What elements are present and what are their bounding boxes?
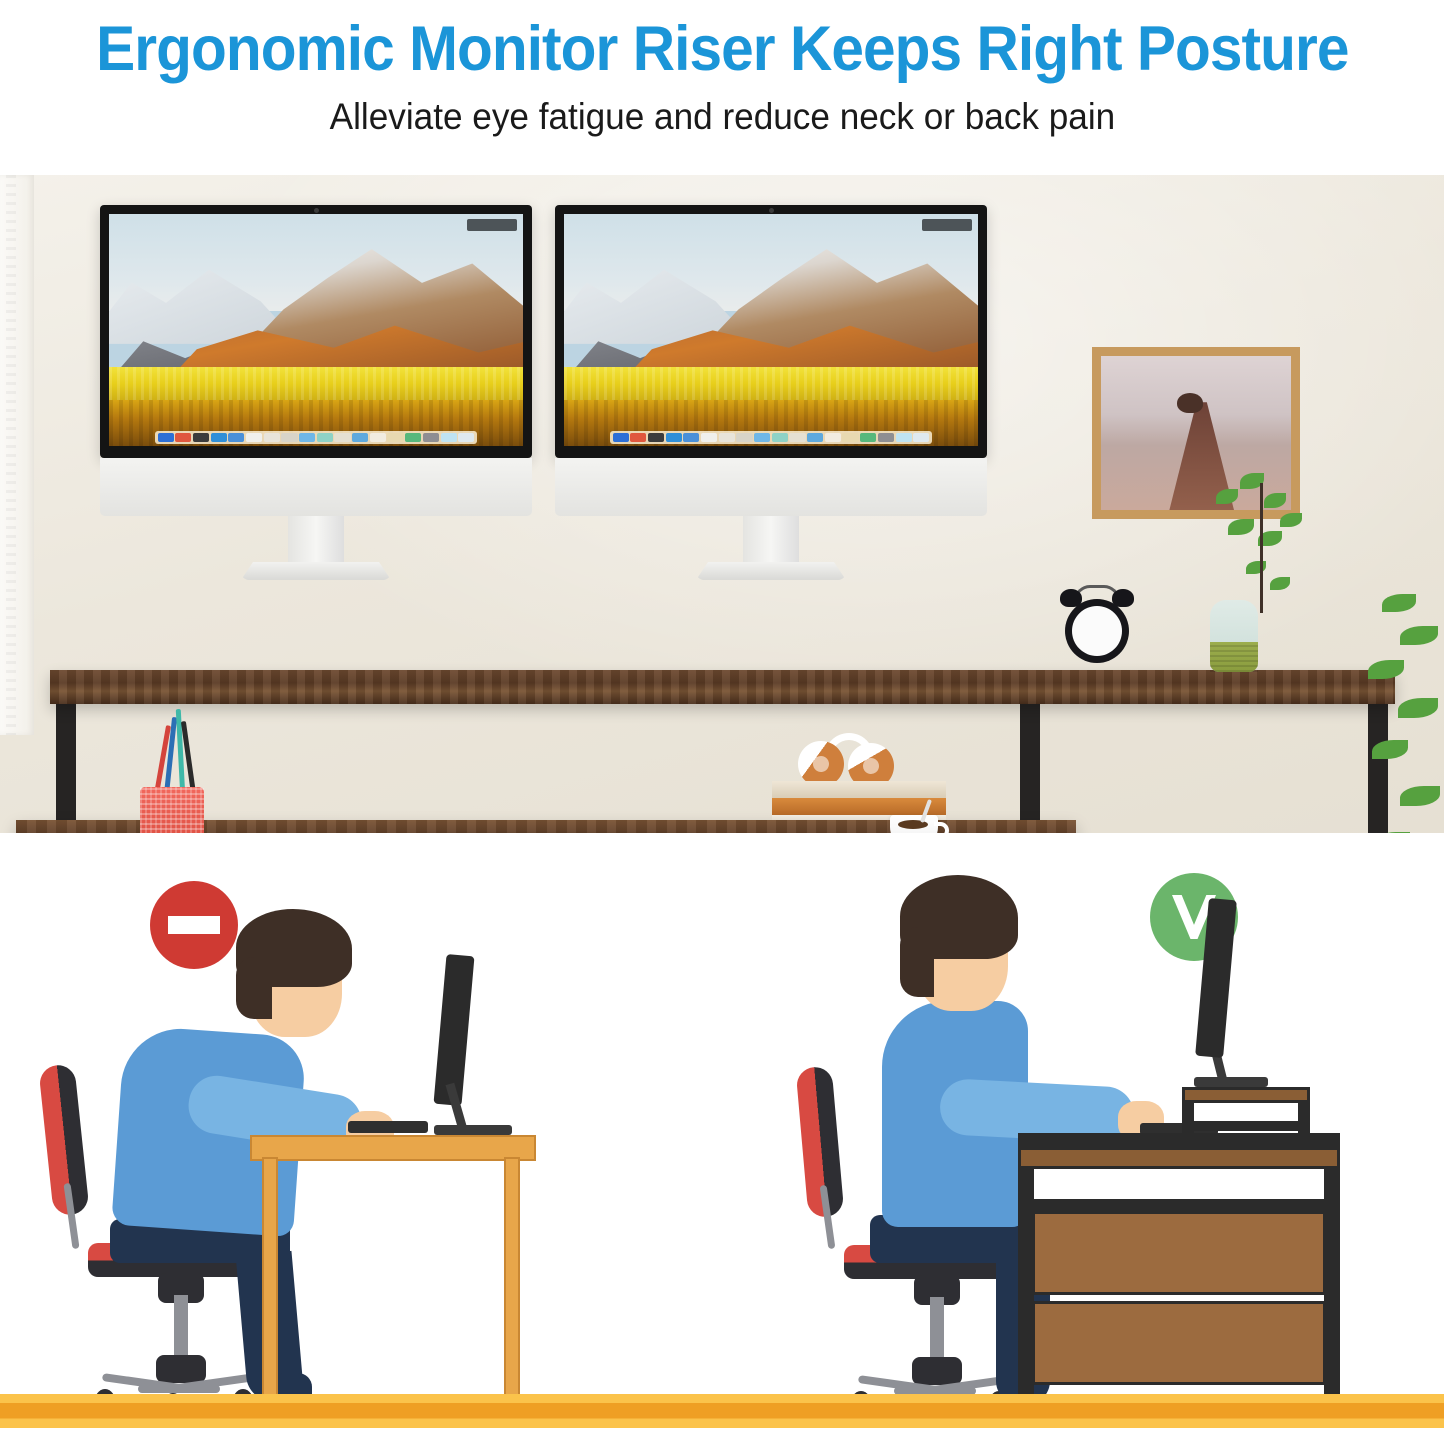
- leaf: [1216, 489, 1238, 504]
- bad-posture-panel: [10, 833, 710, 1444]
- dock-icon-reminders[interactable]: [736, 433, 752, 442]
- dock-icon-safari[interactable]: [193, 433, 209, 442]
- dock-icon-mail[interactable]: [666, 433, 682, 442]
- stop-badge-icon: [150, 881, 238, 969]
- chair-base-hub: [912, 1357, 962, 1385]
- cabinet-divider-top: [1018, 1199, 1340, 1211]
- dock-icon-finder[interactable]: [158, 433, 174, 442]
- good-posture-panel: [750, 833, 1444, 1444]
- chair-base-arm: [138, 1385, 220, 1393]
- clock-face: [1065, 599, 1129, 663]
- left-monitor-neck: [288, 516, 344, 562]
- pencil-cup: [140, 787, 204, 833]
- posture-comparison: [0, 833, 1444, 1444]
- plain-desk-top: [250, 1135, 536, 1161]
- left-monitor-foot: [241, 562, 391, 580]
- page-subtitle: Alleviate eye fatigue and reduce neck or…: [329, 96, 1115, 138]
- dock-icon-mail[interactable]: [211, 433, 227, 442]
- left-monitor-chin: [100, 458, 532, 516]
- dock-icon-safari[interactable]: [648, 433, 664, 442]
- cabinet-drawer-lower[interactable]: [1032, 1301, 1326, 1385]
- person-hair-back: [236, 957, 272, 1019]
- dock-icon-messages[interactable]: [789, 433, 805, 442]
- leaf: [1228, 519, 1254, 535]
- chair-post: [174, 1295, 188, 1359]
- clock-minute-hand: [1097, 631, 1113, 641]
- cabinet-drawer-upper[interactable]: [1032, 1211, 1326, 1295]
- macos-dock: [155, 431, 478, 444]
- menubar: [922, 219, 972, 231]
- left-monitor-screen: [109, 214, 523, 446]
- riser-crossbar: [1182, 1121, 1310, 1131]
- dock-icon-contacts[interactable]: [228, 433, 244, 442]
- macos-dock: [610, 431, 933, 444]
- plain-desk-leg-left: [262, 1157, 278, 1413]
- riser-shelf-top: [1182, 1087, 1310, 1103]
- dock-icon-launchpad[interactable]: [175, 433, 191, 442]
- webcam-icon: [769, 208, 774, 213]
- book-middle: [772, 798, 946, 815]
- dock-icon-notes[interactable]: [264, 433, 280, 442]
- plain-desk-leg-right: [504, 1157, 520, 1413]
- floor-strip: [0, 1394, 1444, 1428]
- right-monitor-foot: [696, 562, 846, 580]
- right-monitor: [555, 205, 987, 580]
- right-monitor-chin: [555, 458, 987, 516]
- alarm-clock: [1058, 585, 1136, 665]
- right-monitor-screen: [564, 214, 978, 446]
- menubar: [467, 219, 517, 231]
- vase-rope-wrap: [1210, 642, 1258, 672]
- leaf: [1246, 561, 1266, 574]
- product-infographic: Ergonomic Monitor Riser Keeps Right Post…: [0, 0, 1444, 1444]
- pens-group: [120, 705, 220, 795]
- right-monitor-neck: [743, 516, 799, 562]
- dock-icon-messages[interactable]: [334, 433, 350, 442]
- dock-icon-calendar[interactable]: [701, 433, 717, 442]
- dock-icon-trash[interactable]: [913, 433, 929, 442]
- leaf: [1400, 626, 1438, 645]
- leaf: [1270, 577, 1290, 590]
- dock-icon-utilities[interactable]: [878, 433, 894, 442]
- dock-icon-photos[interactable]: [772, 433, 788, 442]
- leaf: [1400, 786, 1440, 806]
- book-top: [772, 781, 946, 798]
- leaf: [1264, 493, 1286, 508]
- left-monitor-bezel: [100, 205, 532, 458]
- product-photo: THRIFT: [0, 175, 1444, 833]
- right-monitor-bezel: [555, 205, 987, 458]
- side-plant: [1348, 590, 1444, 833]
- chair-base-hub: [156, 1355, 206, 1383]
- dock-icon-launchpad[interactable]: [630, 433, 646, 442]
- monitor-riser-shelf: [50, 670, 1395, 704]
- dock-icon-reminders[interactable]: [281, 433, 297, 442]
- illustration-monitor-base: [434, 1125, 512, 1135]
- dock-icon-appstore[interactable]: [387, 433, 403, 442]
- cabinet-desk-surface: [1018, 1133, 1340, 1147]
- person-hair-back: [900, 927, 934, 997]
- chair-post: [930, 1297, 944, 1361]
- dock-icon-maps[interactable]: [754, 433, 770, 442]
- dock-icon-downloads[interactable]: [441, 433, 457, 442]
- glass-vase: [1210, 600, 1258, 672]
- dock-icon-facetime[interactable]: [352, 433, 368, 442]
- dock-icon-notes[interactable]: [719, 433, 735, 442]
- dock-icon-itunes[interactable]: [370, 433, 386, 442]
- leaf: [1382, 594, 1416, 612]
- dock-icon-preferences[interactable]: [860, 433, 876, 442]
- curtain: [0, 175, 34, 735]
- riser-leg-right: [1298, 1103, 1310, 1137]
- dock-icon-appstore[interactable]: [842, 433, 858, 442]
- dock-icon-finder[interactable]: [613, 433, 629, 442]
- illustration-monitor-base: [1194, 1077, 1268, 1087]
- leaf: [1398, 698, 1438, 718]
- left-monitor: [100, 205, 532, 580]
- plant-branch: [1206, 465, 1316, 615]
- clock-hour-hand: [1096, 621, 1104, 633]
- dock-icon-contacts[interactable]: [683, 433, 699, 442]
- dock-icon-facetime[interactable]: [807, 433, 823, 442]
- leaf: [1280, 513, 1302, 527]
- leaf: [1368, 660, 1404, 679]
- page-title: Ergonomic Monitor Riser Keeps Right Post…: [96, 16, 1348, 82]
- dock-icon-downloads[interactable]: [896, 433, 912, 442]
- dock-icon-itunes[interactable]: [825, 433, 841, 442]
- header-block: Ergonomic Monitor Riser Keeps Right Post…: [0, 0, 1444, 175]
- webcam-icon: [314, 208, 319, 213]
- wall-art-rock: [1177, 393, 1203, 413]
- riser-leg-mid: [1020, 695, 1040, 825]
- dock-icon-trash[interactable]: [458, 433, 474, 442]
- dock-icon-utilities[interactable]: [423, 433, 439, 442]
- leaf: [1372, 740, 1408, 759]
- dock-icon-preferences[interactable]: [405, 433, 421, 442]
- coffee-cup: [890, 815, 938, 833]
- dock-icon-photos[interactable]: [317, 433, 333, 442]
- riser-leg-left: [56, 695, 76, 825]
- riser-leg-left: [1182, 1103, 1194, 1137]
- illustration-keyboard: [348, 1121, 428, 1133]
- dock-icon-calendar[interactable]: [246, 433, 262, 442]
- cabinet-desk-edge: [1018, 1147, 1340, 1169]
- dock-icon-maps[interactable]: [299, 433, 315, 442]
- branch-stem: [1260, 483, 1263, 613]
